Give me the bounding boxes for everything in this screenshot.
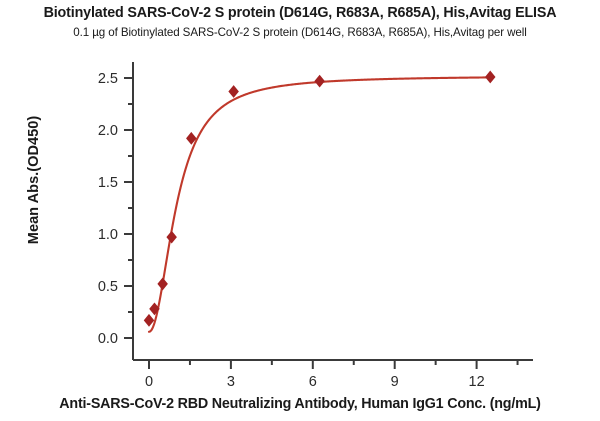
data-point-marker — [167, 232, 176, 243]
data-point-marker — [187, 133, 196, 144]
plot-area: 0.00.51.01.52.02.5 036912 — [0, 0, 600, 421]
svg-text:2.0: 2.0 — [98, 123, 118, 139]
svg-text:9: 9 — [391, 374, 399, 390]
data-point-markers — [145, 72, 495, 326]
fit-curve — [149, 77, 490, 331]
y-axis-tick-labels: 0.00.51.01.52.02.5 — [98, 71, 118, 347]
svg-text:0.0: 0.0 — [98, 331, 118, 347]
data-point-marker — [158, 279, 167, 290]
data-point-marker — [145, 315, 154, 326]
data-point-marker — [229, 86, 238, 97]
svg-text:12: 12 — [469, 374, 485, 390]
svg-text:3: 3 — [227, 374, 235, 390]
svg-text:1.0: 1.0 — [98, 227, 118, 243]
svg-text:6: 6 — [309, 374, 317, 390]
svg-text:1.5: 1.5 — [98, 175, 118, 191]
data-point-marker — [486, 72, 495, 83]
svg-text:0.5: 0.5 — [98, 279, 118, 295]
x-axis-tick-labels: 036912 — [145, 374, 485, 390]
data-point-marker — [315, 76, 324, 87]
x-axis-major-ticks — [149, 360, 477, 369]
svg-text:0: 0 — [145, 374, 153, 390]
elisa-chart-figure: Biotinylated SARS-CoV-2 S protein (D614G… — [0, 0, 600, 421]
svg-text:2.5: 2.5 — [98, 71, 118, 87]
